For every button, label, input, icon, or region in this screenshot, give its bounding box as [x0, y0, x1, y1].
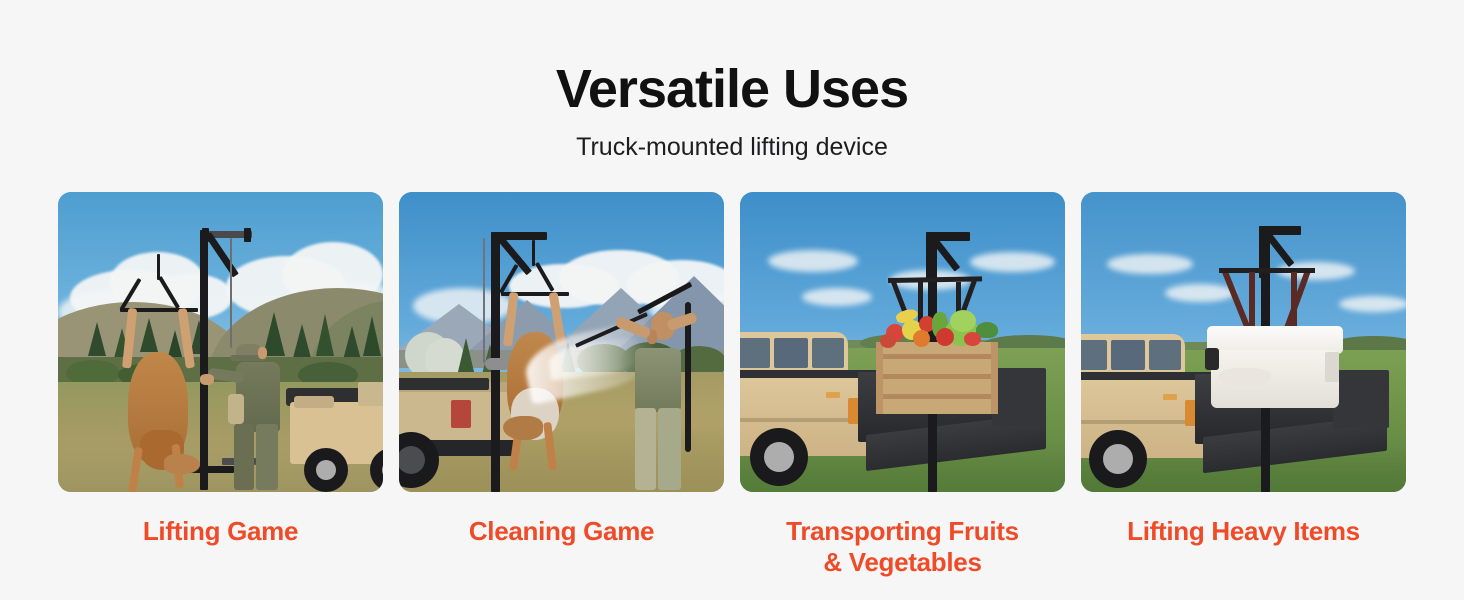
cooler-lift-photo	[1081, 192, 1406, 492]
versatile-uses-banner: Versatile Uses Truck-mounted lifting dev…	[0, 0, 1464, 600]
washing-deer-photo	[399, 192, 724, 492]
use-case-caption-2: Cleaning Game	[469, 516, 654, 547]
use-case-card-3: Transporting Fruits & Vegetables	[740, 192, 1065, 578]
use-case-gallery: Lifting Game	[0, 192, 1464, 578]
hunter-hoisting-deer-photo	[58, 192, 383, 492]
produce-crate-lift-photo	[740, 192, 1065, 492]
use-case-card-2: Cleaning Game	[399, 192, 724, 578]
use-case-caption-3: Transporting Fruits & Vegetables	[786, 516, 1019, 578]
page-title: Versatile Uses	[0, 62, 1464, 116]
use-case-caption-1: Lifting Game	[143, 516, 298, 547]
use-case-card-1: Lifting Game	[58, 192, 383, 578]
page-subtitle: Truck-mounted lifting device	[0, 134, 1464, 162]
use-case-caption-4: Lifting Heavy Items	[1127, 516, 1360, 547]
use-case-card-4: Lifting Heavy Items	[1081, 192, 1406, 578]
header: Versatile Uses Truck-mounted lifting dev…	[0, 0, 1464, 162]
